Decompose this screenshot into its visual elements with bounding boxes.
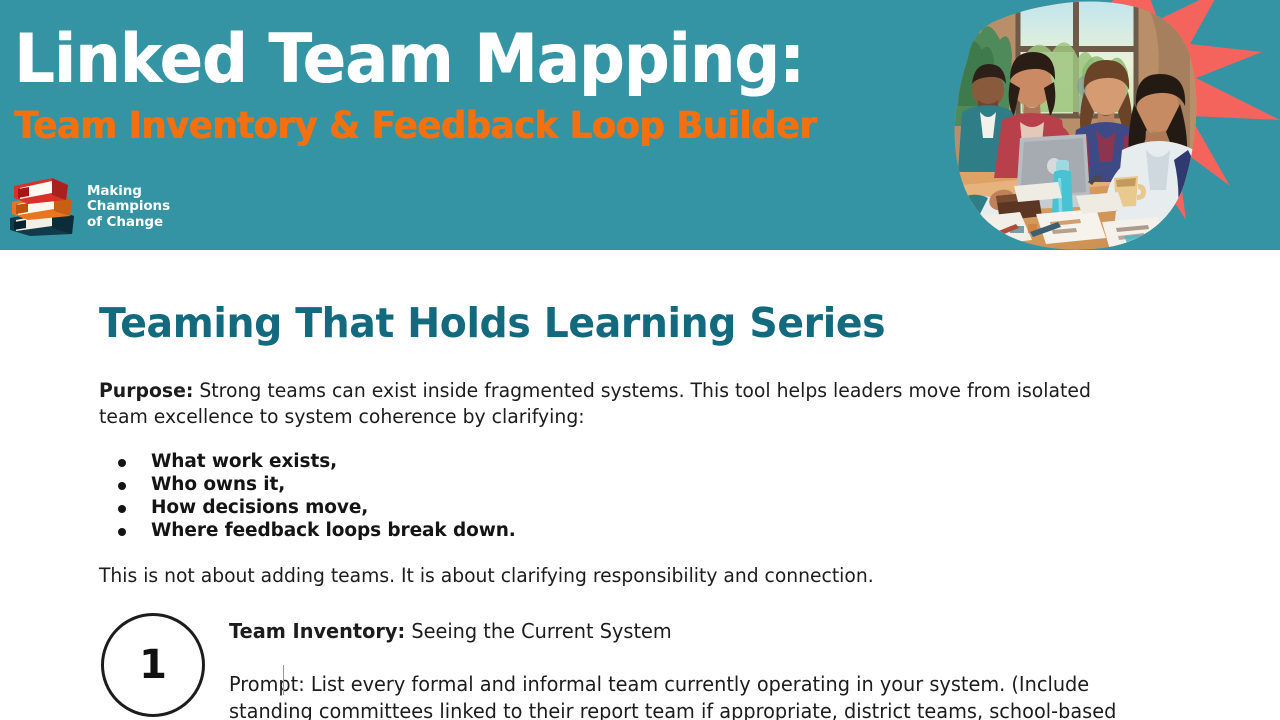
step-prompt-body: List every formal and informal team curr… — [229, 672, 1116, 720]
illustration-scene — [942, 0, 1204, 250]
step-prompt-label: Prompt: — [229, 672, 305, 696]
step-number-badge: 1 — [101, 613, 205, 717]
text-cursor-caret — [283, 665, 284, 695]
bullet-dot-icon — [118, 459, 126, 467]
header-banner: Linked Team Mapping: Team Inventory & Fe… — [0, 0, 1280, 250]
step-heading-rest: Seeing the Current System — [405, 619, 672, 643]
purpose-paragraph: Purpose: Strong teams can exist inside f… — [99, 378, 1127, 429]
brand-logo-text: Making Champions of Change — [87, 184, 170, 231]
step-number-label: 1 — [139, 645, 167, 685]
purpose-bullet-list: What work exists, Who owns it, How decis… — [113, 450, 516, 542]
list-item: Where feedback loops break down. — [113, 519, 516, 542]
purpose-body: Strong teams can exist inside fragmented… — [99, 379, 1091, 428]
list-item: Who owns it, — [113, 473, 516, 496]
step-prompt: Prompt: List every formal and informal t… — [229, 671, 1136, 720]
brand-logo: Making Champions of Change — [8, 176, 170, 238]
list-item-label: Who owns it, — [151, 474, 285, 495]
page-title: Linked Team Mapping: — [14, 18, 804, 102]
document-page: Linked Team Mapping: Team Inventory & Fe… — [0, 0, 1280, 720]
document-body: Teaming That Holds Learning Series Purpo… — [0, 250, 1280, 720]
step-heading: Team Inventory: Seeing the Current Syste… — [229, 618, 672, 644]
list-item: How decisions move, — [113, 496, 516, 519]
step-heading-label: Team Inventory: — [229, 619, 405, 643]
brand-line-2: Champions — [87, 199, 170, 215]
bullet-dot-icon — [118, 482, 126, 490]
closing-paragraph: This is not about adding teams. It is ab… — [99, 563, 874, 589]
team-meeting-illustration — [890, 0, 1280, 250]
page-subtitle: Team Inventory & Feedback Loop Builder — [14, 103, 816, 149]
brand-line-3: of Change — [87, 215, 170, 231]
list-item-label: How decisions move, — [151, 497, 368, 518]
section-heading: Teaming That Holds Learning Series — [99, 298, 885, 348]
bullet-dot-icon — [118, 528, 126, 536]
list-item: What work exists, — [113, 450, 516, 473]
list-item-label: What work exists, — [151, 451, 337, 472]
bullet-dot-icon — [118, 505, 126, 513]
list-item-label: Where feedback loops break down. — [151, 520, 516, 541]
brand-line-1: Making — [87, 184, 170, 200]
purpose-label: Purpose: — [99, 379, 193, 402]
stacked-books-icon — [8, 176, 78, 238]
